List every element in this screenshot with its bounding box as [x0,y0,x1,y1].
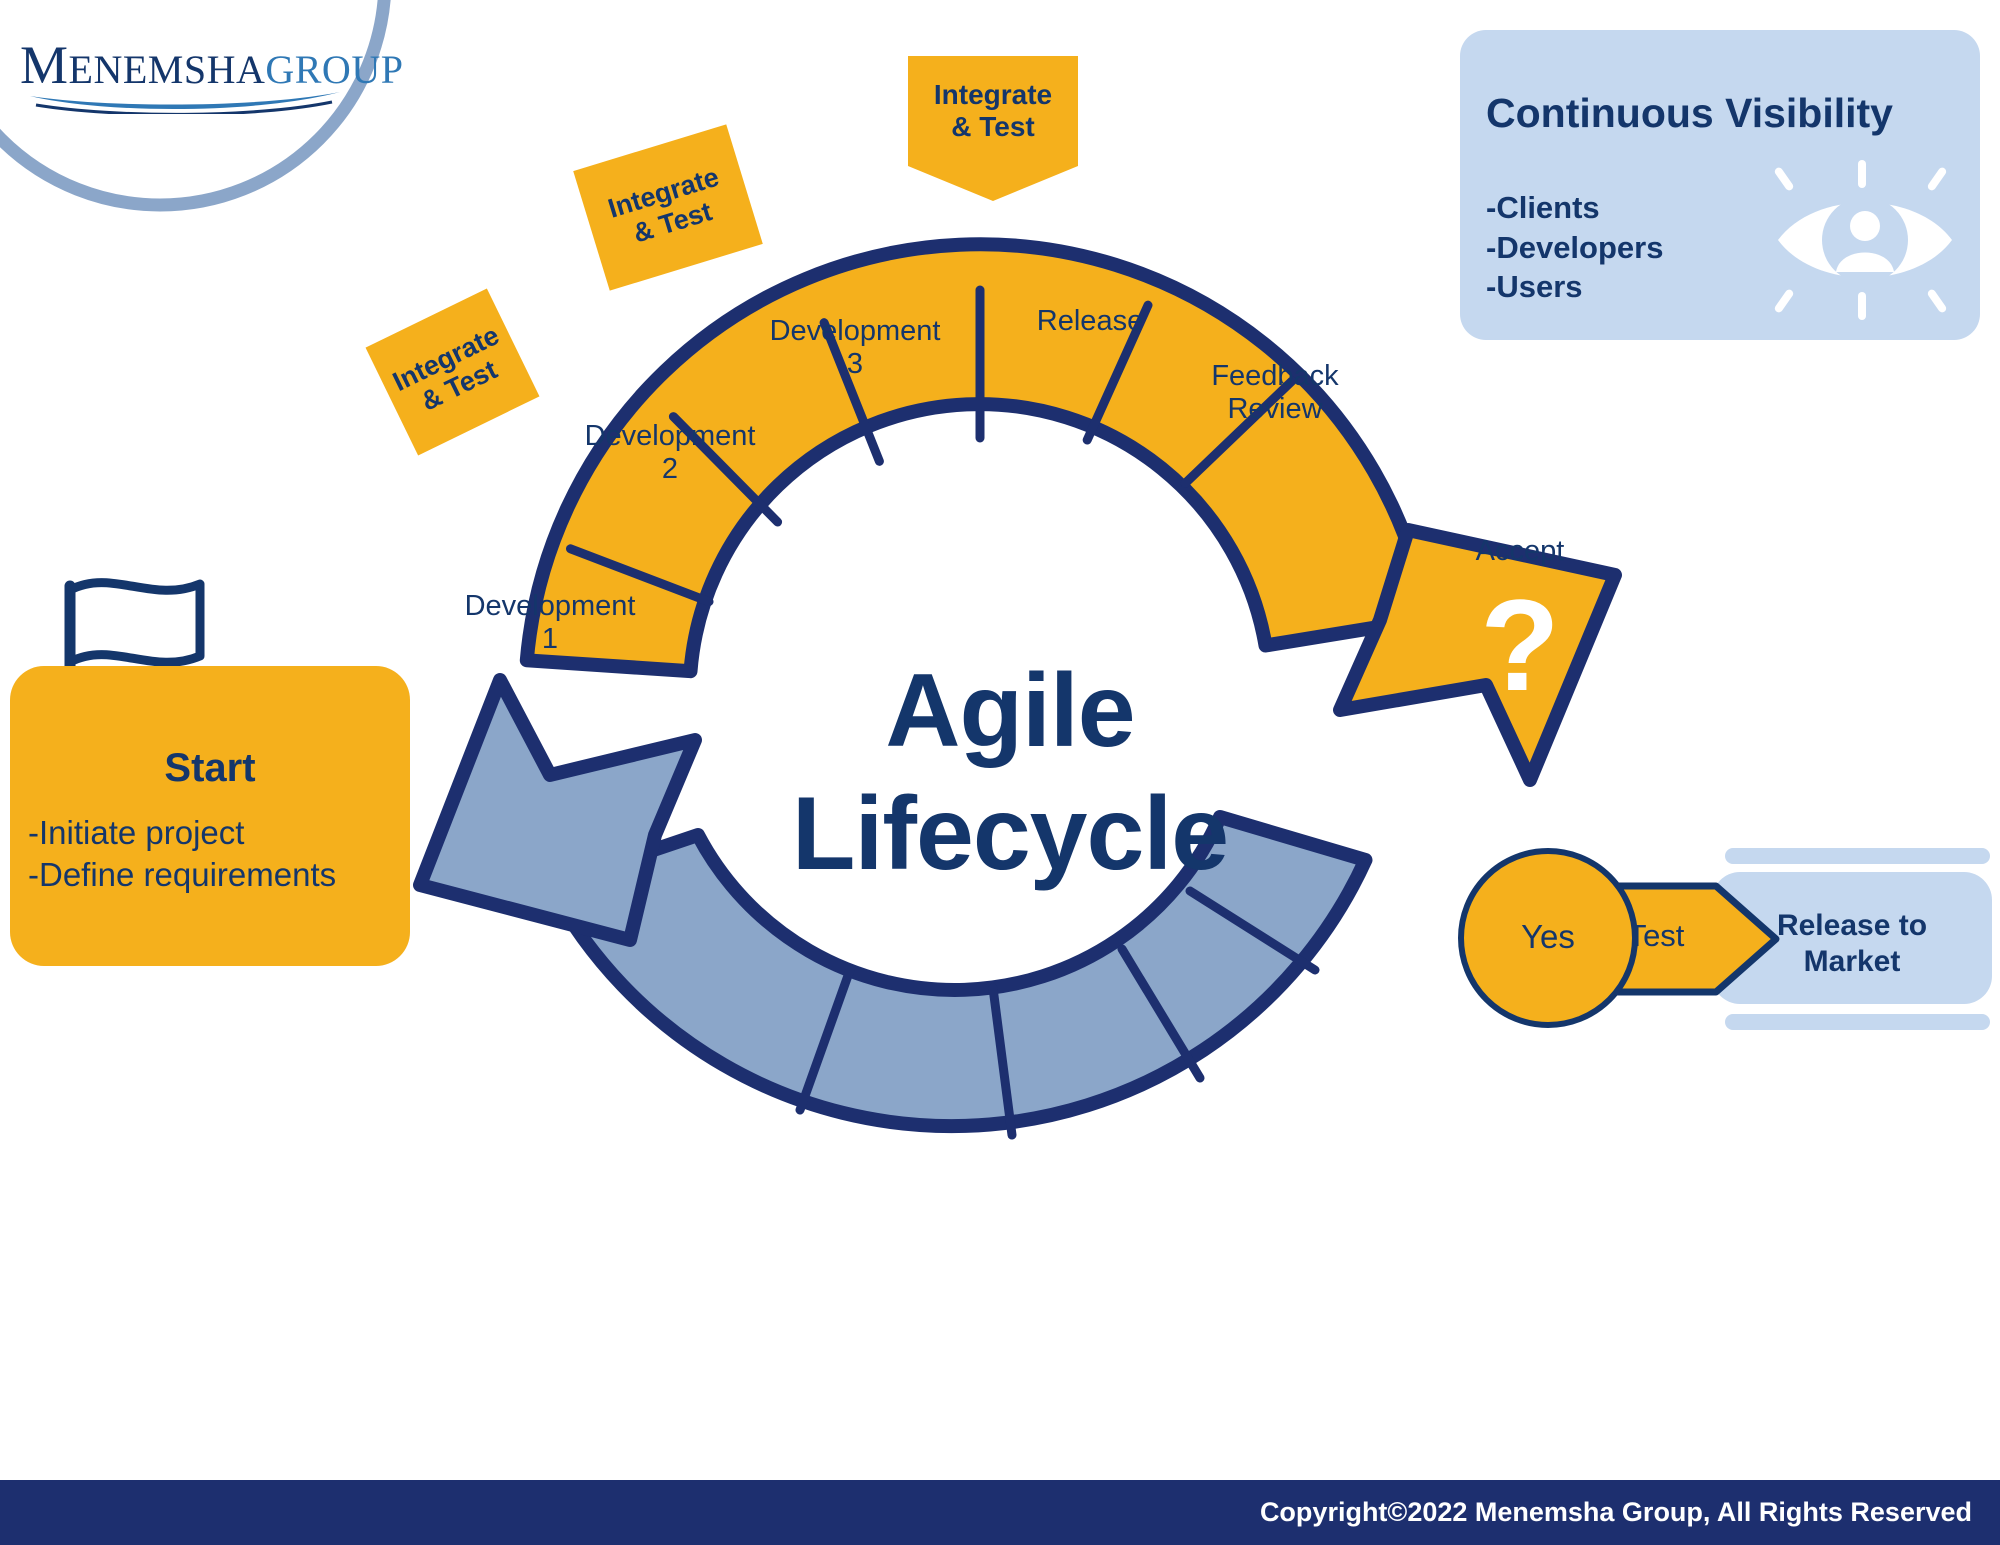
start-card: Start -Initiate project -Define requirem… [10,666,410,966]
logo-text-m: M [20,35,69,95]
copyright-text: Copyright©2022 Menemsha Group, All Right… [1260,1497,1972,1528]
eye-person-icon [1770,160,1960,320]
start-list: -Initiate project -Define requirements [28,812,336,896]
release-bar-top-decoration [1725,848,1990,864]
logo-text-group: GROUP [265,47,403,92]
release-bar-bottom-decoration [1725,1014,1990,1030]
logo-text-menemsha: ENEMSHA [69,47,266,92]
logo-swoosh-icon [26,88,346,114]
visibility-title: Continuous Visibility [1486,90,1893,137]
yes-label: Yes [1458,918,1638,956]
page-title: Agile Lifecycle [700,650,1320,895]
title-line-1: Agile [700,650,1320,773]
infographic-canvas: MENEMSHAGROUP Continuous Visibility -Cli… [0,0,2000,1545]
accept-question-mark: ? [1455,580,1585,710]
sticky-note-label: Integrate & Test [934,79,1052,143]
title-line-2: Lifecycle [700,773,1320,896]
start-title: Start [10,746,410,791]
